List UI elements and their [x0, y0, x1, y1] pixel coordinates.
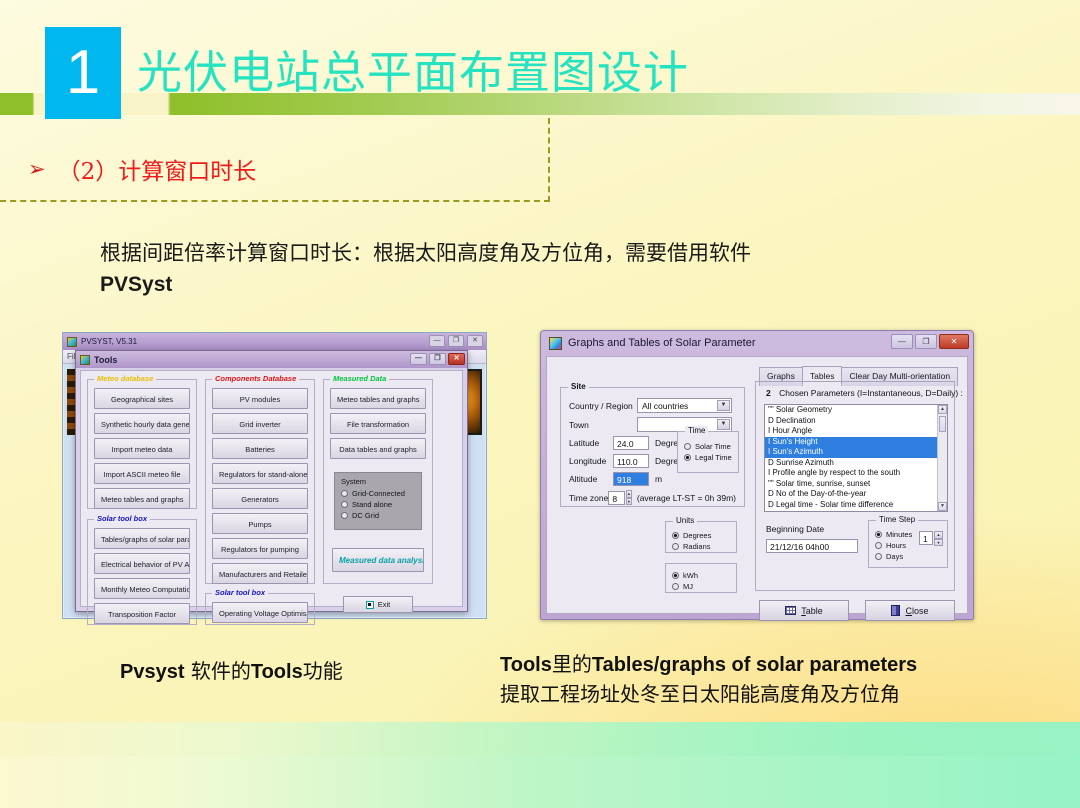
pvsyst-titlebar: PVSYST, V5.31 — ❐ ✕ — [63, 333, 486, 350]
system-group-box: System Grid-Connected Stand alone — [334, 472, 422, 530]
btn-geographical-sites[interactable]: Geographical sites — [94, 388, 190, 409]
listbox-scrollbar[interactable]: ▲ ▼ — [937, 405, 947, 511]
radio-radians-label: Radians — [683, 542, 711, 551]
section-number-badge: 1 — [45, 27, 121, 119]
bullet-arrow-icon: ➢ — [28, 159, 46, 180]
radio-dc-grid-label: DC Grid — [352, 511, 379, 520]
btn-import-ascii-meteo-file[interactable]: Import ASCII meteo file — [94, 463, 190, 484]
tools-minimize-icon[interactable]: — — [410, 353, 427, 365]
chosen-parameters-label: Chosen Parameters (I=Instantaneous, D=Da… — [779, 388, 963, 398]
radio-degrees-icon — [672, 532, 679, 539]
gt-app-icon — [549, 337, 562, 350]
list-item[interactable]: D Sunrise Azimuth — [765, 458, 947, 469]
radio-kwh-label: kWh — [683, 571, 698, 580]
radio-days[interactable]: Days — [875, 552, 941, 561]
footer-gradient-band-2 — [0, 756, 1080, 808]
units-fieldset: Units Degrees Radians — [665, 521, 737, 553]
btn-generators[interactable]: Generators — [212, 488, 308, 509]
caption-right-line2: 提取工程场址处冬至日太阳能高度角及方位角 — [500, 682, 900, 706]
btn-operating-voltage-optimisation[interactable]: Operating Voltage Optimisation — [212, 602, 308, 623]
group-label-meteo-database: Meteo database — [94, 374, 156, 383]
radio-mj[interactable]: MJ — [672, 582, 730, 591]
parameters-listbox[interactable]: "" Solar Geometry D Declination I Hour A… — [764, 404, 948, 512]
caption-left-cn: 软件的 — [185, 659, 251, 683]
group-label-components-database: Components Database — [212, 374, 299, 383]
radio-solar-time-icon — [684, 443, 691, 450]
tables-panel: 2 Chosen Parameters (I=Instantaneous, D=… — [755, 381, 955, 591]
group-solar-tool-box-right: Solar tool box Operating Voltage Optimis… — [205, 593, 315, 625]
radio-grid-connected-icon — [341, 490, 348, 497]
radio-dc-grid[interactable]: DC Grid — [341, 511, 415, 520]
btn-monthly-meteo-computation[interactable]: Monthly Meteo Computation — [94, 578, 190, 599]
caption-right: Tools里的Tables/graphs of solar parameters… — [500, 650, 1060, 709]
list-item[interactable]: D Declination — [765, 416, 947, 427]
btn-file-transformation[interactable]: File transformation — [330, 413, 426, 434]
btn-manufacturers-and-retailers[interactable]: Manufacturers and Retailers — [212, 563, 308, 584]
radio-legal-time-label: Legal Time — [695, 453, 732, 462]
screenshot-pvsyst-tools: PVSYST, V5.31 — ❐ ✕ File vaj@l.cum Tools — [62, 332, 487, 619]
radio-radians[interactable]: Radians — [672, 542, 730, 551]
time-step-value-input[interactable]: 1 — [919, 531, 933, 545]
radio-stand-alone-icon — [341, 501, 348, 508]
chosen-parameters-header: 2 Chosen Parameters (I=Instantaneous, D=… — [766, 388, 963, 398]
scroll-down-icon[interactable]: ▼ — [938, 502, 947, 511]
radio-grid-connected[interactable]: Grid-Connected — [341, 489, 415, 498]
bullet-label: （2）计算窗口时长 — [58, 152, 257, 186]
tools-maximize-icon[interactable]: ❐ — [429, 353, 446, 365]
gt-maximize-icon[interactable]: ❐ — [915, 334, 937, 349]
tools-app-icon — [80, 355, 90, 365]
units-group-label: Units — [673, 516, 697, 525]
time-step-spinner[interactable]: ▲▼ — [934, 531, 943, 546]
minimize-icon[interactable]: — — [429, 335, 445, 347]
btn-grid-inverter[interactable]: Grid inverter — [212, 413, 308, 434]
btn-batteries[interactable]: Batteries — [212, 438, 308, 459]
chevron-down-icon[interactable]: ▼ — [717, 400, 730, 411]
btn-regulators-for-pumping[interactable]: Regulators for pumping — [212, 538, 308, 559]
btn-import-meteo-data[interactable]: Import meteo data — [94, 438, 190, 459]
time-step-group-label: Time Step — [876, 515, 918, 524]
altitude-label: Altitude — [569, 474, 613, 484]
list-item[interactable]: D Length of the day — [765, 510, 947, 512]
radio-legal-time-icon — [684, 454, 691, 461]
body-paragraph-line2: PVSyst — [100, 273, 172, 296]
latitude-label: Latitude — [569, 438, 613, 448]
pvsyst-window-controls: — ❐ ✕ — [429, 335, 483, 347]
btn-close-label: Close — [905, 606, 928, 616]
country-region-select[interactable]: All countries ▼ — [637, 398, 732, 413]
radio-days-label: Days — [886, 552, 903, 561]
page-title: 光伏电站总平面布置图设计 — [137, 36, 689, 101]
site-group-label: Site — [568, 382, 589, 391]
group-label-measured-data: Measured Data — [330, 374, 389, 383]
screenshot-graphs-tables-solar: Graphs and Tables of Solar Parameter — ❐… — [540, 330, 974, 620]
list-item[interactable]: D Legal time - Solar time difference — [765, 500, 947, 511]
table-icon — [785, 606, 796, 615]
caption-left-cn2: 功能 — [303, 659, 343, 683]
gt-body: Site Country / Region All countries ▼ To… — [546, 356, 968, 614]
pvsyst-title-text: PVSYST, V5.31 — [81, 337, 137, 346]
longitude-input[interactable]: 110.0 — [613, 454, 649, 468]
tabstrip: Graphs Tables Clear Day Multi-orientatio… — [759, 367, 949, 381]
graphs-tables-window: Graphs and Tables of Solar Parameter — ❐… — [540, 330, 974, 620]
radio-kwh-icon — [672, 572, 679, 579]
caption-left-en2: Tools — [251, 661, 303, 683]
radio-degrees[interactable]: Degrees — [672, 531, 730, 540]
slide-canvas: 1 光伏电站总平面布置图设计 ➢ （2）计算窗口时长 根据间距倍率计算窗口时长：… — [0, 0, 1080, 808]
caption-right-b: 里的 — [552, 652, 592, 676]
altitude-row: Altitude 918 m — [569, 472, 736, 486]
maximize-icon[interactable]: ❐ — [448, 335, 464, 347]
town-row: Town ▼ — [569, 417, 736, 432]
close-icon[interactable]: ✕ — [467, 335, 483, 347]
btn-regulators-for-stand-alone[interactable]: Regulators for stand-alone — [212, 463, 308, 484]
btn-meteo-tables-and-graphs[interactable]: Meteo tables and graphs — [94, 488, 190, 509]
town-label: Town — [569, 420, 637, 430]
scroll-up-icon[interactable]: ▲ — [938, 405, 947, 414]
system-group-label: System — [341, 477, 415, 486]
btn-transposition-factor[interactable]: Transposition Factor — [94, 603, 190, 624]
list-item[interactable]: D No of the Day-of-the-year — [765, 489, 947, 500]
list-item[interactable]: "" Solar time, sunrise, sunset — [765, 479, 947, 490]
caption-left-en: Pvsyst — [120, 661, 185, 683]
body-paragraph-line1: 根据间距倍率计算窗口时长：根据太阳高度角及方位角，需要借用软件 — [100, 241, 751, 265]
gt-minimize-icon[interactable]: — — [891, 334, 913, 349]
country-region-label: Country / Region — [569, 401, 637, 411]
longitude-label: Longitude — [569, 456, 613, 466]
tools-title-text: Tools — [94, 355, 117, 365]
list-item[interactable]: "" Solar Geometry — [765, 405, 947, 416]
gt-titlebar: Graphs and Tables of Solar Parameter — ❐… — [541, 331, 973, 355]
beginning-date-input[interactable]: 21/12/16 04h00 — [766, 539, 858, 553]
radio-mj-label: MJ — [683, 582, 693, 591]
radio-grid-connected-label: Grid-Connected — [352, 489, 405, 498]
radio-solar-time[interactable]: Solar Time — [684, 442, 732, 451]
group-components-database: Components Database PV modules Grid inve… — [205, 379, 315, 584]
gt-window-controls: — ❐ ✕ — [891, 334, 969, 349]
tools-window-controls: — ❐ ✕ — [410, 353, 465, 365]
group-measured-data: Measured Data Meteo tables and graphs Fi… — [323, 379, 433, 584]
group-meteo-database: Meteo database Geographical sites Synthe… — [87, 379, 197, 509]
btn-electrical-behavior-of-pv-arrays[interactable]: Electrical behavior of PV Arrays — [94, 553, 190, 574]
radio-kwh[interactable]: kWh — [672, 571, 730, 580]
altitude-input[interactable]: 918 — [613, 472, 649, 486]
radio-hours-label: Hours — [886, 541, 906, 550]
radio-solar-time-label: Solar Time — [695, 442, 731, 451]
caption-left: Pvsyst 软件的Tools功能 — [120, 655, 343, 684]
tools-titlebar: Tools — ❐ ✕ — [76, 351, 467, 368]
list-item-selected[interactable]: I Sun's Height — [765, 437, 947, 448]
latitude-input[interactable]: 24.0 — [613, 436, 649, 450]
caption-right-a: Tools — [500, 654, 552, 676]
list-item-selected[interactable]: I Sun's Azimuth — [765, 447, 947, 458]
list-item[interactable]: I Hour Angle — [765, 426, 947, 437]
gt-close-icon[interactable]: ✕ — [939, 334, 969, 349]
tools-dialog: Tools — ❐ ✕ Meteo database Geographical … — [75, 350, 468, 612]
caption-right-c: Tables/graphs of solar parameters — [592, 654, 917, 676]
radio-minutes-icon — [875, 531, 882, 538]
btn-measured-data-analysis[interactable]: Measured data analysis — [332, 548, 424, 572]
btn-pv-modules[interactable]: PV modules — [212, 388, 308, 409]
radio-minutes-label: Minutes — [886, 530, 912, 539]
radio-stand-alone-label: Stand alone — [352, 500, 392, 509]
time-step-fieldset: Time Step Minutes Hours Days — [868, 520, 948, 568]
bullet-row: ➢ （2）计算窗口时长 — [28, 152, 256, 186]
list-item[interactable]: I Profile angle by respect to the south — [765, 468, 947, 479]
door-exit-icon — [891, 605, 900, 616]
tools-close-icon[interactable]: ✕ — [448, 353, 465, 365]
timezone-row: Time zone 8 ▲▼ (average LT-ST = 0h 39m) — [569, 490, 736, 505]
btn-data-tables-and-graphs[interactable]: Data tables and graphs — [330, 438, 426, 459]
radio-stand-alone[interactable]: Stand alone — [341, 500, 415, 509]
btn-close[interactable]: Close — [865, 600, 955, 621]
energy-units-fieldset: kWh MJ — [665, 563, 737, 593]
timezone-note: (average LT-ST = 0h 39m) — [637, 493, 736, 503]
gt-title-text: Graphs and Tables of Solar Parameter — [568, 337, 756, 349]
exit-icon — [366, 601, 374, 609]
radio-radians-icon — [672, 543, 679, 550]
body-paragraph: 根据间距倍率计算窗口时长：根据太阳高度角及方位角，需要借用软件 PVSyst — [100, 238, 980, 300]
btn-tables-graphs-of-solar-parameters[interactable]: Tables/graphs of solar parameters — [94, 528, 190, 549]
chosen-parameters-count: 2 — [766, 388, 771, 398]
btn-synthetic-hourly-data-generation[interactable]: Synthetic hourly data generation — [94, 413, 190, 434]
btn-table-label: TTableable — [801, 606, 823, 616]
beginning-date-block: Beginning Date 21/12/16 04h00 — [766, 524, 858, 553]
group-label-solar-tool-box-left: Solar tool box — [94, 514, 150, 523]
btn-pumps[interactable]: Pumps — [212, 513, 308, 534]
radio-days-icon — [875, 553, 882, 560]
btn-meteo-tables-and-graphs-md[interactable]: Meteo tables and graphs — [330, 388, 426, 409]
radio-dc-grid-icon — [341, 512, 348, 519]
radio-hours-icon — [875, 542, 882, 549]
radio-degrees-label: Degrees — [683, 531, 711, 540]
group-label-solar-tool-box-right: Solar tool box — [212, 588, 268, 597]
radio-mj-icon — [672, 583, 679, 590]
altitude-unit: m — [655, 474, 662, 484]
radio-legal-time[interactable]: Legal Time — [684, 453, 732, 462]
beginning-date-label: Beginning Date — [766, 524, 858, 534]
btn-exit-label: Exit — [378, 596, 391, 613]
time-fieldset: Time Solar Time Legal Time — [677, 431, 739, 473]
tools-dialog-body: Meteo database Geographical sites Synthe… — [80, 370, 463, 607]
group-solar-tool-box-left: Solar tool box Tables/graphs of solar pa… — [87, 519, 197, 625]
btn-table[interactable]: TTableable — [759, 600, 849, 621]
pvsyst-main-window: PVSYST, V5.31 — ❐ ✕ File vaj@l.cum Tools — [62, 332, 487, 619]
pvsyst-app-icon — [67, 337, 77, 347]
country-region-row: Country / Region All countries ▼ — [569, 398, 736, 413]
timezone-label: Time zone — [569, 493, 608, 503]
timezone-input[interactable]: 8 — [608, 491, 625, 505]
chevron-down-icon-town[interactable]: ▼ — [717, 419, 730, 430]
scrollbar-thumb[interactable] — [939, 416, 946, 432]
timezone-spinner[interactable]: ▲▼ — [626, 490, 632, 505]
time-group-label: Time — [685, 426, 708, 435]
btn-exit[interactable]: Exit — [343, 596, 413, 613]
